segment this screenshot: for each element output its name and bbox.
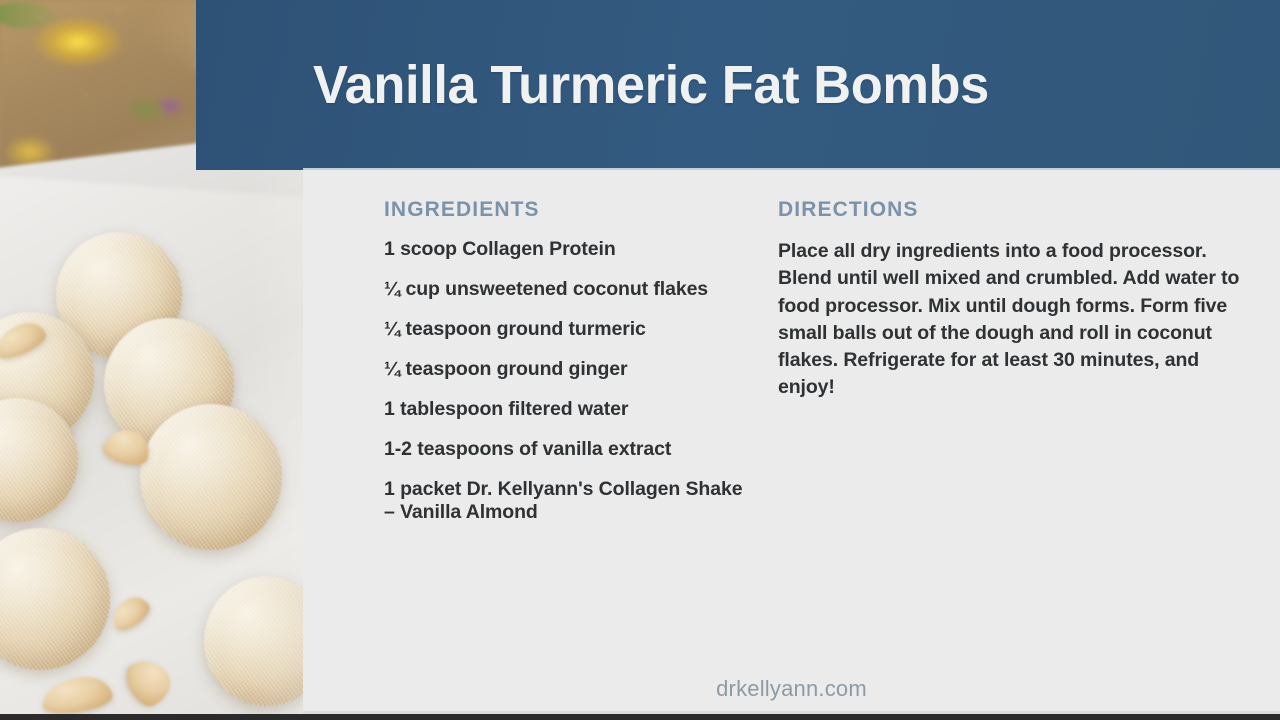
recipe-card: Vanilla Turmeric Fat Bombs INGREDIENTS 1… [0, 0, 1280, 720]
list-item: 1 scoop Collagen Protein [384, 238, 744, 261]
directions-column: DIRECTIONS Place all dry ingredients int… [778, 198, 1258, 402]
page-title: Vanilla Turmeric Fat Bombs [313, 58, 989, 112]
list-item: 1 tablespoon filtered water [384, 398, 744, 421]
directions-heading: DIRECTIONS [778, 198, 1258, 222]
ingredients-list: 1 scoop Collagen Protein ¼ cup unsweeten… [384, 238, 744, 524]
list-item: ¼ teaspoon ground turmeric [384, 318, 744, 341]
photo-greenery-sprig [0, 2, 56, 28]
list-item: ¼ cup unsweetened coconut flakes [384, 278, 744, 301]
list-item: 1-2 teaspoons of vanilla extract [384, 438, 744, 461]
ingredients-heading: INGREDIENTS [384, 198, 744, 222]
fat-bomb [140, 404, 282, 550]
card-header: Vanilla Turmeric Fat Bombs [196, 0, 1280, 170]
directions-text: Place all dry ingredients into a food pr… [778, 238, 1258, 402]
website-url: drkellyann.com [303, 676, 1280, 702]
list-item: 1 packet Dr. Kellyann's Collagen Shake –… [384, 478, 744, 524]
ingredients-column: INGREDIENTS 1 scoop Collagen Protein ¼ c… [384, 198, 744, 541]
letterbox-bar [0, 714, 1280, 720]
recipe-content-panel: INGREDIENTS 1 scoop Collagen Protein ¼ c… [303, 170, 1280, 714]
recipe-columns: INGREDIENTS 1 scoop Collagen Protein ¼ c… [303, 170, 1280, 640]
list-item: ¼ teaspoon ground ginger [384, 358, 744, 381]
